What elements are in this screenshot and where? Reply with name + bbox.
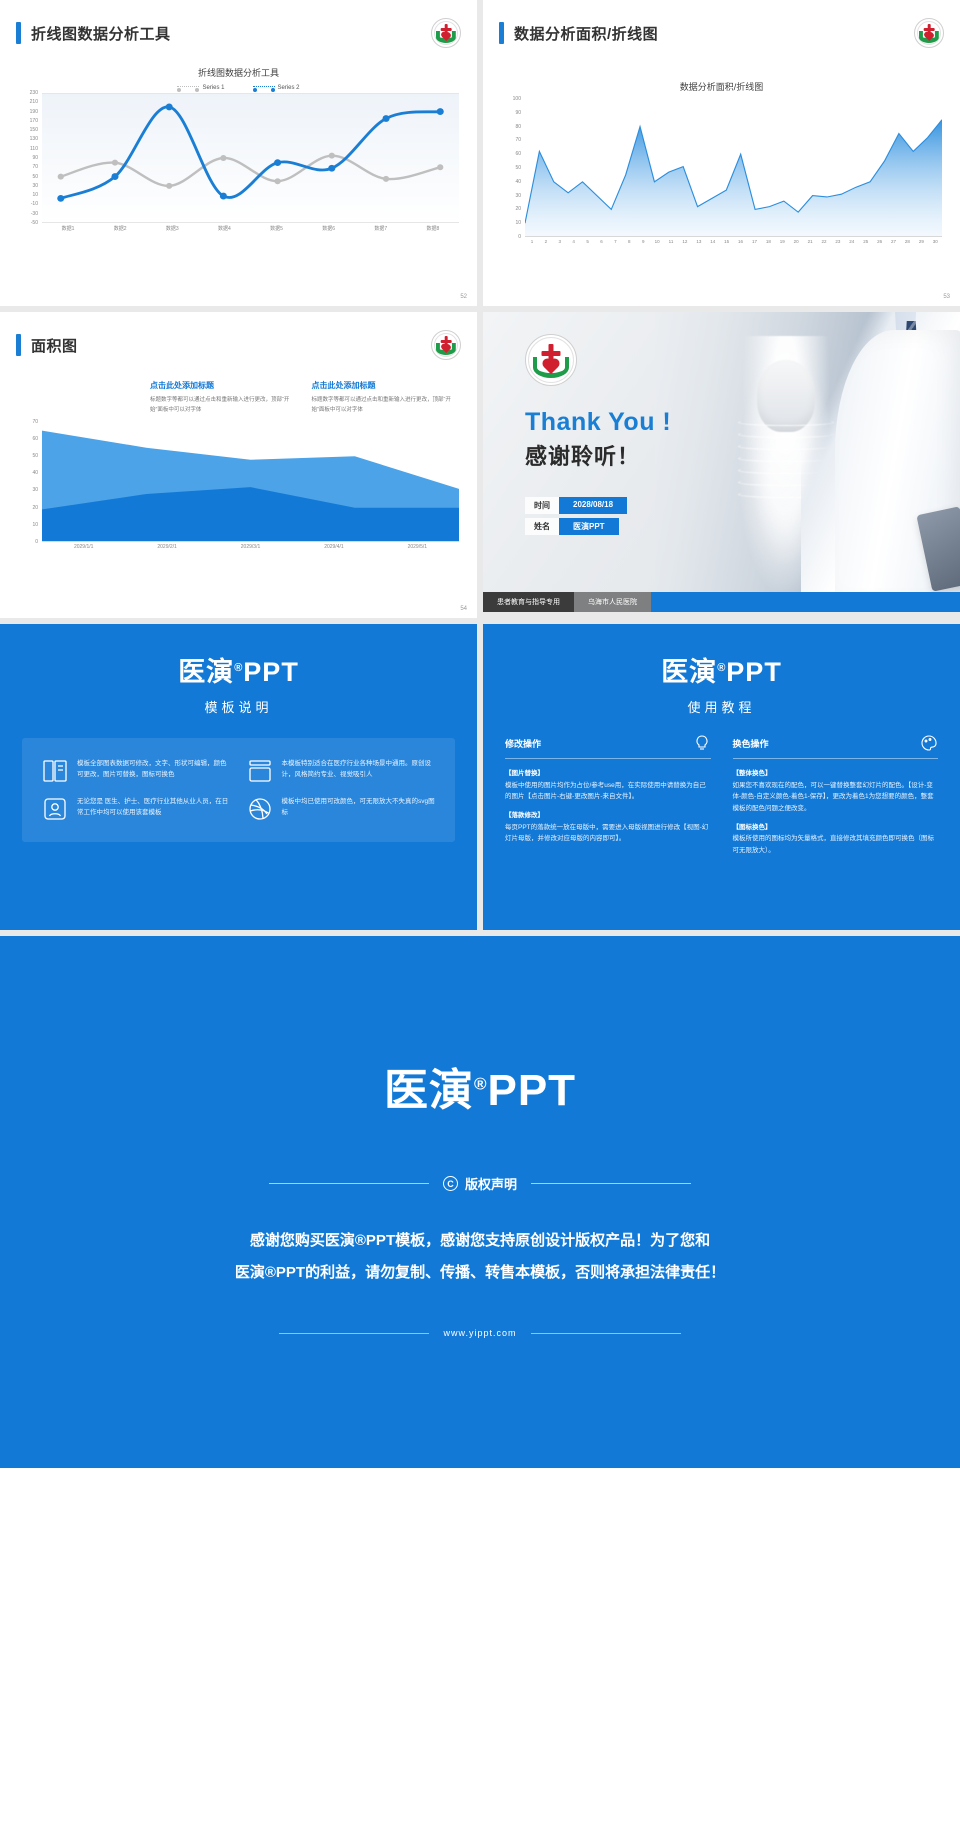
title-accent-bar xyxy=(499,22,504,44)
item-body: 每页PPT的落款统一放在母版中，需要进入母版视图进行修改【视图-幻灯片母版，并修… xyxy=(505,824,708,843)
y-tick-label: 170 xyxy=(30,118,38,124)
x-tick-label: 3 xyxy=(553,239,567,244)
data-point xyxy=(329,153,335,159)
meta-label: 时间 xyxy=(525,497,559,514)
tutorial-columns: 修改操作 【图片替换】 模板中使用的图片均作为占位/参考use用，在实际使用中请… xyxy=(505,734,938,857)
line-chart-container: 折线图数据分析工具 Series 1 Series 2 230210190170… xyxy=(0,48,477,256)
y-tick-label: 70 xyxy=(515,137,521,143)
x-tick-label: 18 xyxy=(761,239,775,244)
callout-2: 点击此处添加标题 标题数字等都可以通过点击和重新输入进行更改，顶部“开始”面板中… xyxy=(312,380,460,416)
y-tick-label: 230 xyxy=(30,90,38,96)
callout-1: 点击此处添加标题 标题数字等都可以通过点击和重新输入进行更改，顶部“开始”面板中… xyxy=(150,380,298,416)
palette-icon xyxy=(920,734,938,752)
brand-suffix: PPT xyxy=(726,657,782,687)
x-tick-label: 数据6 xyxy=(303,225,355,232)
y-tick-label: 90 xyxy=(32,155,38,161)
item-title: 【落款修改】 xyxy=(505,810,711,822)
x-tick-label: 4 xyxy=(567,239,581,244)
divider-line-right xyxy=(531,1183,691,1184)
url-line-left xyxy=(279,1333,429,1334)
slide-subtitle: 使用教程 xyxy=(483,697,960,716)
x-tick-label: 2029/1/1 xyxy=(42,544,125,550)
legend-marker-icon xyxy=(253,86,275,91)
y-tick-label: 10 xyxy=(32,192,38,198)
copyright-divider: C 版权声明 xyxy=(0,1174,960,1193)
copyright-label: C 版权声明 xyxy=(443,1174,517,1193)
page-title: 面积图 xyxy=(31,335,78,356)
website-url[interactable]: www.yippt.com xyxy=(443,1328,516,1338)
x-axis-labels: 2029/1/12029/2/12029/3/12029/4/12029/5/1 xyxy=(42,544,459,550)
slide-page-number: 52 xyxy=(460,294,467,300)
x-axis-labels: 1234567891011121314151617181920212223242… xyxy=(525,239,942,244)
x-tick-label: 数据8 xyxy=(407,225,459,232)
meta-value: 2028/08/18 xyxy=(559,497,627,514)
line-chart-plot: 2302101901701501301109070503010-10-30-50 xyxy=(18,93,459,223)
legend-marker-icon xyxy=(177,86,199,91)
slide-header: 数据分析面积/折线图 xyxy=(483,0,960,48)
data-point xyxy=(166,104,173,111)
data-point xyxy=(274,159,281,166)
x-tick-label: 2029/5/1 xyxy=(376,544,459,550)
meta-row-date: 时间 2028/08/18 xyxy=(525,497,960,514)
slide-header: 面积图 xyxy=(0,312,477,360)
y-tick-label: 60 xyxy=(515,151,521,157)
y-tick-label: 190 xyxy=(30,109,38,115)
x-tick-label: 数据2 xyxy=(94,225,146,232)
hospital-logo-icon xyxy=(525,334,577,386)
data-point xyxy=(220,155,226,161)
data-point xyxy=(166,183,172,189)
y-tick-label: 0 xyxy=(518,234,521,240)
hospital-logo-icon xyxy=(914,18,944,48)
website-row: www.yippt.com xyxy=(0,1328,960,1338)
slide-row-2: 面积图 点击此处添加标题 标题数字等都可以通过点击和重新输入进行更改，顶部“开始… xyxy=(0,312,960,618)
tutorial-column-edit: 修改操作 【图片替换】 模板中使用的图片均作为占位/参考use用，在实际使用中请… xyxy=(505,734,711,857)
y-axis-labels: 706050403020100 xyxy=(18,422,40,542)
y-tick-label: 90 xyxy=(515,110,521,116)
y-tick-label: 20 xyxy=(32,505,38,511)
callout-title: 点击此处添加标题 xyxy=(312,380,460,391)
x-tick-label: 10 xyxy=(650,239,664,244)
title-accent-bar xyxy=(16,334,21,356)
slide-line-chart[interactable]: 折线图数据分析工具 折线图数据分析工具 Series 1 Series 2 xyxy=(0,0,477,306)
x-tick-label: 数据5 xyxy=(251,225,303,232)
info-panel: 模板全部图表数据可修改，文字、形状可编辑，颜色可更改，图片可替换，图标可换色 本… xyxy=(22,738,455,842)
x-tick-label: 16 xyxy=(734,239,748,244)
y-tick-label: 210 xyxy=(30,99,38,105)
data-point xyxy=(58,174,64,180)
x-tick-label: 21 xyxy=(803,239,817,244)
x-tick-label: 15 xyxy=(720,239,734,244)
x-tick-label: 17 xyxy=(748,239,762,244)
y-tick-label: 130 xyxy=(30,136,38,142)
slide-row-1: 折线图数据分析工具 折线图数据分析工具 Series 1 Series 2 xyxy=(0,0,960,306)
callout-body: 标题数字等都可以通过点击和重新输入进行更改，顶部“开始”面板中可以对字体 xyxy=(150,395,298,416)
y-tick-label: 0 xyxy=(35,539,38,545)
meta-row-name: 姓名 医演PPT xyxy=(525,518,960,535)
data-point xyxy=(437,108,444,115)
x-tick-label: 数据1 xyxy=(42,225,94,232)
footer-hospital: 乌海市人民医院 xyxy=(574,592,651,612)
data-point xyxy=(57,195,64,202)
copyright-label-text: 版权声明 xyxy=(465,1174,517,1193)
footer-department: 患者教育与指导专用 xyxy=(483,592,574,612)
y-tick-label: 30 xyxy=(32,487,38,493)
thank-you-content: Thank You ! 感谢聆听！ 时间 2028/08/18 姓名 医演PPT xyxy=(483,312,960,612)
brand-logo: 医演®PPT xyxy=(0,650,477,689)
y-tick-label: 40 xyxy=(32,470,38,476)
item-title: 【图片替换】 xyxy=(505,768,711,780)
info-text: 模板全部图表数据可修改，文字、形状可编辑，颜色可更改，图片可替换，图标可换色 xyxy=(77,758,231,784)
info-cell: 模板全部图表数据可修改，文字、形状可编辑，颜色可更改，图片可替换，图标可换色 xyxy=(34,752,239,790)
slide-header: 折线图数据分析工具 xyxy=(0,0,477,48)
y-tick-label: 10 xyxy=(32,522,38,528)
column-body: 【整体换色】 如果您不喜欢现在的配色，可以一键替换整套幻灯片的配色。【设计-变体… xyxy=(733,768,939,857)
data-point xyxy=(437,164,443,170)
copyright-line-1: 感谢您购买医演®PPT模板，感谢您支持原创设计版权产品！为了您和 xyxy=(0,1225,960,1257)
x-tick-label: 25 xyxy=(859,239,873,244)
chart-title: 数据分析面积/折线图 xyxy=(501,80,942,93)
y-tick-label: 110 xyxy=(30,146,38,152)
x-tick-label: 23 xyxy=(831,239,845,244)
slide-area-line-chart[interactable]: 数据分析面积/折线图 数据分析面积/折线图 100908070605040302… xyxy=(483,0,960,306)
area-line-chart-container: 数据分析面积/折线图 1009080706050403020100 xyxy=(483,48,960,268)
column-body: 【图片替换】 模板中使用的图片均作为占位/参考use用，在实际使用中请替换为自己… xyxy=(505,768,711,845)
x-tick-label: 26 xyxy=(873,239,887,244)
thank-you-meta: 时间 2028/08/18 姓名 医演PPT xyxy=(525,497,960,535)
y-tick-label: 50 xyxy=(515,165,521,171)
brand-registered-mark: ® xyxy=(717,662,726,674)
brand-suffix: PPT xyxy=(243,657,299,687)
x-tick-label: 8 xyxy=(622,239,636,244)
column-title: 换色操作 xyxy=(733,737,769,750)
brand-registered-mark: ® xyxy=(234,662,243,674)
slide-page-number: 53 xyxy=(943,294,950,300)
copyright-icon: C xyxy=(443,1176,458,1191)
brand-name: 医演 xyxy=(384,1066,474,1115)
y-tick-label: 20 xyxy=(515,206,521,212)
area-line-plot: 1009080706050403020100 xyxy=(501,99,942,237)
data-point xyxy=(274,178,280,184)
footer-accent xyxy=(651,592,960,612)
hospital-logo-icon xyxy=(431,18,461,48)
page-title: 折线图数据分析工具 xyxy=(31,23,171,44)
area-chart-svg xyxy=(42,422,459,542)
slide-tutorial[interactable]: 医演®PPT 使用教程 修改操作 【图片替换】 模板中使用的图片均作为占位/参考… xyxy=(483,624,960,930)
y-tick-label: 30 xyxy=(515,193,521,199)
x-tick-label: 2029/3/1 xyxy=(209,544,292,550)
x-axis-labels: 数据1数据2数据3数据4数据5数据6数据7数据8 xyxy=(42,225,459,232)
x-tick-label: 11 xyxy=(664,239,678,244)
item-title: 【图标换色】 xyxy=(733,822,939,834)
book-icon xyxy=(42,758,68,784)
x-tick-label: 29 xyxy=(914,239,928,244)
y-tick-label: 80 xyxy=(515,124,521,130)
x-tick-label: 22 xyxy=(817,239,831,244)
legend-label: Series 2 xyxy=(278,85,300,91)
brand-registered-mark: ® xyxy=(474,1074,488,1093)
ppt-preview-page: 折线图数据分析工具 折线图数据分析工具 Series 1 Series 2 xyxy=(0,0,960,1480)
slide-thank-you[interactable]: Thank You ! 感谢聆听！ 时间 2028/08/18 姓名 医演PPT… xyxy=(483,312,960,612)
slide-template-info[interactable]: 医演®PPT 模板说明 模板全部图表数据可修改，文字、形状可编辑，颜色可更改，图… xyxy=(0,624,477,930)
meta-label: 姓名 xyxy=(525,518,559,535)
column-title: 修改操作 xyxy=(505,737,541,750)
y-tick-label: 70 xyxy=(32,419,38,425)
y-tick-label: 40 xyxy=(515,179,521,185)
brand-logo-large: 医演®PPT xyxy=(0,1054,960,1118)
info-text: 本模板特别适合在医疗行业各种场景中通用。原创设计，风格简约专业、视觉吸引人 xyxy=(282,758,436,784)
area-chart-container: 706050403020100 2029/1/12029/2/12029/3/1… xyxy=(0,416,477,574)
slide-page-number: 54 xyxy=(460,606,467,612)
x-tick-label: 数据3 xyxy=(146,225,198,232)
x-tick-label: 28 xyxy=(900,239,914,244)
brand-logo: 医演®PPT xyxy=(483,650,960,689)
data-point xyxy=(111,173,118,180)
y-tick-label: -50 xyxy=(31,220,38,226)
data-point xyxy=(383,176,389,182)
url-line-right xyxy=(531,1333,681,1334)
x-tick-label: 13 xyxy=(692,239,706,244)
layers-icon xyxy=(247,758,273,784)
slide-footer-bar: 患者教育与指导专用 乌海市人民医院 xyxy=(483,592,960,612)
item-body: 模板中使用的图片均作为占位/参考use用，在实际使用中请替换为自己的图片【点击图… xyxy=(505,782,706,801)
data-point xyxy=(328,165,335,172)
y-axis-labels: 2302101901701501301109070503010-10-30-50 xyxy=(18,93,40,223)
x-tick-label: 2029/4/1 xyxy=(292,544,375,550)
item-body: 模板所使用的图标均为矢量格式，直接修改其填充颜色即可换色（图标可无限放大）。 xyxy=(733,835,935,854)
meta-value: 医演PPT xyxy=(559,518,619,535)
x-tick-label: 2029/2/1 xyxy=(125,544,208,550)
column-header: 修改操作 xyxy=(505,734,711,759)
x-tick-label: 19 xyxy=(775,239,789,244)
area-chart-callouts: 点击此处添加标题 标题数字等都可以通过点击和重新输入进行更改，顶部“开始”面板中… xyxy=(0,360,477,416)
info-text: 模板中均已使用可改颜色，可无限放大不失真的svg图标 xyxy=(282,796,436,822)
copyright-line-2: 医演®PPT的利益，请勿复制、传播、转售本模板，否则将承担法律责任！ xyxy=(0,1257,960,1289)
page-title: 数据分析面积/折线图 xyxy=(514,23,658,44)
line-chart-svg xyxy=(42,93,459,223)
info-text: 无论您是 医生、护士、医疗行业其他从业人员，在日常工作中均可以使用该套模板 xyxy=(77,796,231,822)
thank-you-chinese: 感谢聆听！ xyxy=(525,439,960,471)
y-tick-label: 150 xyxy=(30,127,38,133)
thank-you-english: Thank You ! xyxy=(525,408,960,437)
y-tick-label: 60 xyxy=(32,436,38,442)
column-header: 换色操作 xyxy=(733,734,939,759)
y-tick-label: 100 xyxy=(513,96,521,102)
legend-item-series-2: Series 2 xyxy=(253,85,300,91)
x-tick-label: 2 xyxy=(539,239,553,244)
slide-area-chart[interactable]: 面积图 点击此处添加标题 标题数字等都可以通过点击和重新输入进行更改，顶部“开始… xyxy=(0,312,477,618)
legend-label: Series 1 xyxy=(202,85,224,91)
x-tick-label: 数据7 xyxy=(355,225,407,232)
info-cell: 无论您是 医生、护士、医疗行业其他从业人员，在日常工作中均可以使用该套模板 xyxy=(34,790,239,828)
chart-legend: Series 1 Series 2 xyxy=(18,85,459,91)
copyright-text: 感谢您购买医演®PPT模板，感谢您支持原创设计版权产品！为了您和 医演®PPT的… xyxy=(0,1225,960,1288)
x-tick-label: 5 xyxy=(581,239,595,244)
bulb-icon xyxy=(693,734,711,752)
brand-suffix: PPT xyxy=(487,1066,576,1115)
y-tick-label: -30 xyxy=(31,211,38,217)
tutorial-column-color: 换色操作 【整体换色】 如果您不喜欢现在的配色，可以一键替换整套幻灯片的配色。【… xyxy=(733,734,939,857)
x-tick-label: 7 xyxy=(608,239,622,244)
dribbble-icon xyxy=(247,796,273,822)
chart-title: 折线图数据分析工具 xyxy=(18,66,459,79)
x-tick-label: 12 xyxy=(678,239,692,244)
x-tick-label: 14 xyxy=(706,239,720,244)
area-line-svg xyxy=(525,99,942,237)
user-icon xyxy=(42,796,68,822)
data-point xyxy=(382,115,389,122)
slide-row-3: 医演®PPT 模板说明 模板全部图表数据可修改，文字、形状可编辑，颜色可更改，图… xyxy=(0,624,960,930)
divider-line-left xyxy=(269,1183,429,1184)
y-tick-label: 30 xyxy=(32,183,38,189)
x-tick-label: 1 xyxy=(525,239,539,244)
y-tick-label: -10 xyxy=(31,201,38,207)
y-tick-label: 50 xyxy=(32,174,38,180)
y-axis-labels: 1009080706050403020100 xyxy=(501,99,523,237)
data-point xyxy=(220,193,227,200)
slide-subtitle: 模板说明 xyxy=(0,697,477,716)
x-tick-label: 20 xyxy=(789,239,803,244)
x-tick-label: 9 xyxy=(636,239,650,244)
brand-name: 医演 xyxy=(661,657,717,687)
hospital-logo-icon xyxy=(431,330,461,360)
area-chart-plot: 706050403020100 xyxy=(18,422,459,542)
legend-item-series-1: Series 1 xyxy=(177,85,224,91)
x-tick-label: 数据4 xyxy=(198,225,250,232)
y-tick-label: 70 xyxy=(32,164,38,170)
y-tick-label: 10 xyxy=(515,220,521,226)
item-body: 如果您不喜欢现在的配色，可以一键替换整套幻灯片的配色。【设计-变体-颜色-自定义… xyxy=(733,782,934,812)
x-tick-label: 6 xyxy=(595,239,609,244)
brand-name: 医演 xyxy=(178,657,234,687)
data-point xyxy=(112,160,118,166)
x-tick-label: 30 xyxy=(928,239,942,244)
info-cell: 本模板特别适合在医疗行业各种场景中通用。原创设计，风格简约专业、视觉吸引人 xyxy=(239,752,444,790)
callout-title: 点击此处添加标题 xyxy=(150,380,298,391)
callout-body: 标题数字等都可以通过点击和重新输入进行更改，顶部“开始”面板中可以对字体 xyxy=(312,395,460,416)
title-accent-bar xyxy=(16,22,21,44)
item-title: 【整体换色】 xyxy=(733,768,939,780)
slide-copyright[interactable]: 医演®PPT C 版权声明 感谢您购买医演®PPT模板，感谢您支持原创设计版权产… xyxy=(0,936,960,1468)
x-tick-label: 24 xyxy=(845,239,859,244)
x-tick-label: 27 xyxy=(887,239,901,244)
y-tick-label: 50 xyxy=(32,453,38,459)
info-cell: 模板中均已使用可改颜色，可无限放大不失真的svg图标 xyxy=(239,790,444,828)
